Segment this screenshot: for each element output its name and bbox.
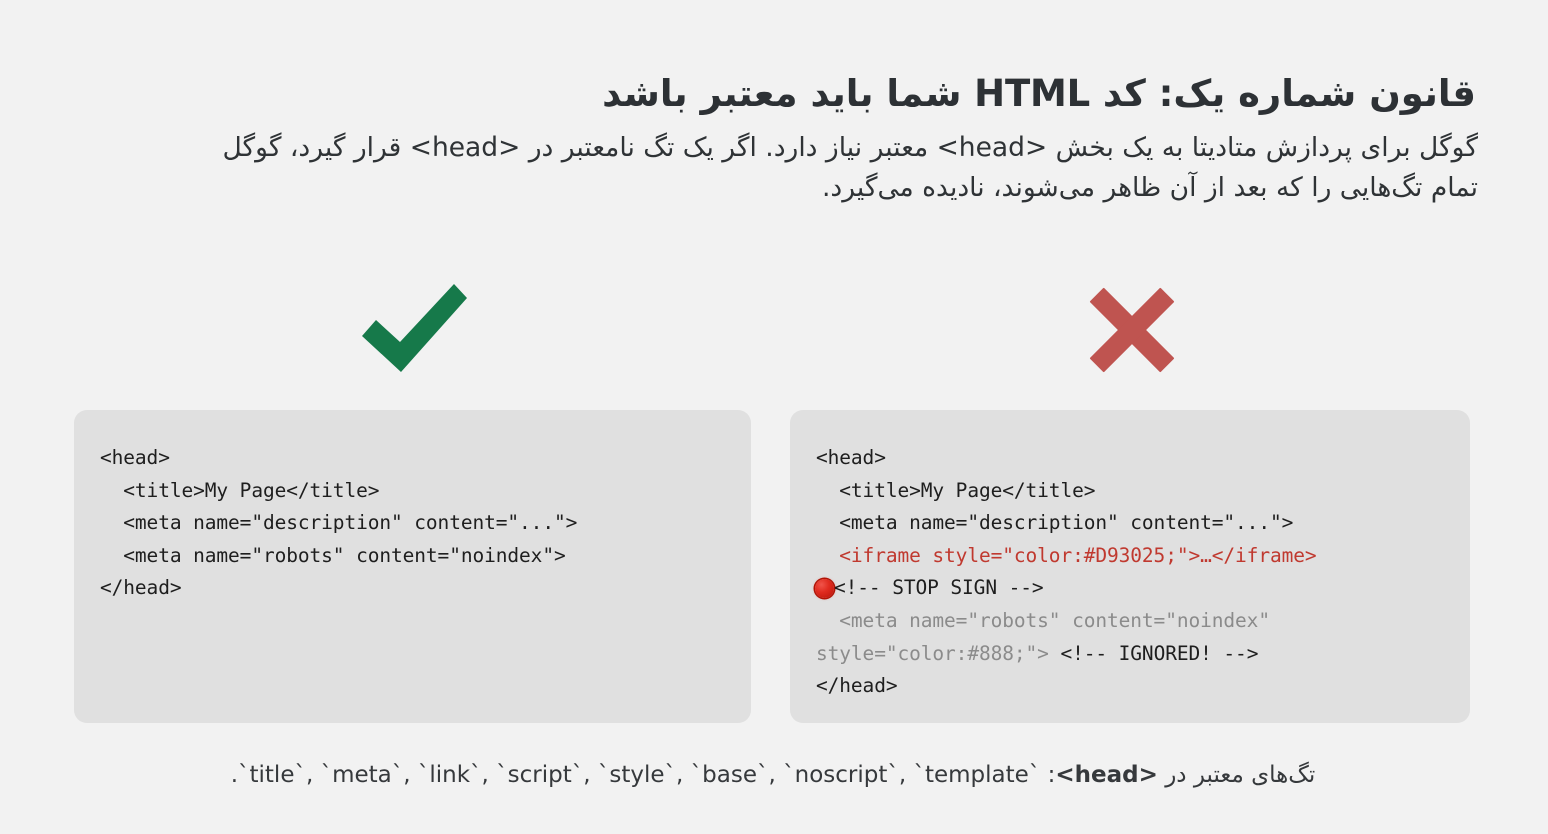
footnote-separator: : — [1040, 762, 1055, 788]
code-line: <meta name="description" content="..."> — [816, 507, 1444, 540]
page-title: قانون شماره یک: کد HTML شما باید معتبر ب… — [72, 69, 1476, 119]
footnote-head-tag: <head> — [1055, 762, 1158, 788]
ignored-comment-text: <!-- IGNORED! --> — [1060, 642, 1258, 665]
status-icon-row — [0, 276, 1548, 396]
code-line: <head> — [100, 442, 725, 475]
footnote: تگ‌های معتبر در <head>: `title`, `meta`,… — [68, 758, 1478, 792]
code-line: <title>My Page</title> — [100, 475, 725, 508]
footnote-suffix: . — [231, 762, 238, 788]
footnote-prefix: تگ‌های معتبر در — [1158, 762, 1315, 788]
body-paragraph: گوگل برای پردازش متادیتا به یک بخش <head… — [68, 128, 1478, 208]
code-line: </head> — [816, 670, 1444, 703]
code-line-ignored-meta: <meta name="robots" content="noindex" st… — [816, 605, 1444, 670]
code-line-stop-comment-text: <!-- STOP SIGN --> — [834, 576, 1044, 599]
bad-example-icon-slot — [1072, 276, 1192, 396]
stop-sign-icon — [815, 579, 834, 598]
code-line-invalid-iframe: <iframe style="color:#D93025;">…</iframe… — [816, 540, 1444, 573]
code-line-stop-marker: <!-- STOP SIGN --> — [816, 572, 1444, 605]
code-line: </head> — [100, 572, 725, 605]
invalid-head-code-block: <head> <title>My Page</title> <meta name… — [816, 442, 1444, 703]
code-line: <meta name="robots" content="noindex"> — [100, 540, 725, 573]
body-paragraph-line-2: تمام تگ‌هایی را که بعد از آن ظاهر می‌شون… — [68, 168, 1478, 208]
invalid-head-code-card: <head> <title>My Page</title> <meta name… — [790, 410, 1470, 723]
footnote-tag-list: `title`, `meta`, `link`, `script`, `styl… — [238, 762, 1040, 788]
code-line: <meta name="description" content="..."> — [100, 507, 725, 540]
cross-mark-icon — [1072, 276, 1192, 384]
body-paragraph-line-1: گوگل برای پردازش متادیتا به یک بخش <head… — [68, 128, 1478, 168]
code-line: <head> — [816, 442, 1444, 475]
code-line: <title>My Page</title> — [816, 475, 1444, 508]
valid-head-code-block: <head> <title>My Page</title> <meta name… — [100, 442, 725, 605]
valid-head-code-card: <head> <title>My Page</title> <meta name… — [74, 410, 751, 723]
check-mark-icon — [354, 276, 474, 384]
slide-root: قانون شماره یک: کد HTML شما باید معتبر ب… — [0, 0, 1548, 834]
good-example-icon-slot — [354, 276, 474, 396]
